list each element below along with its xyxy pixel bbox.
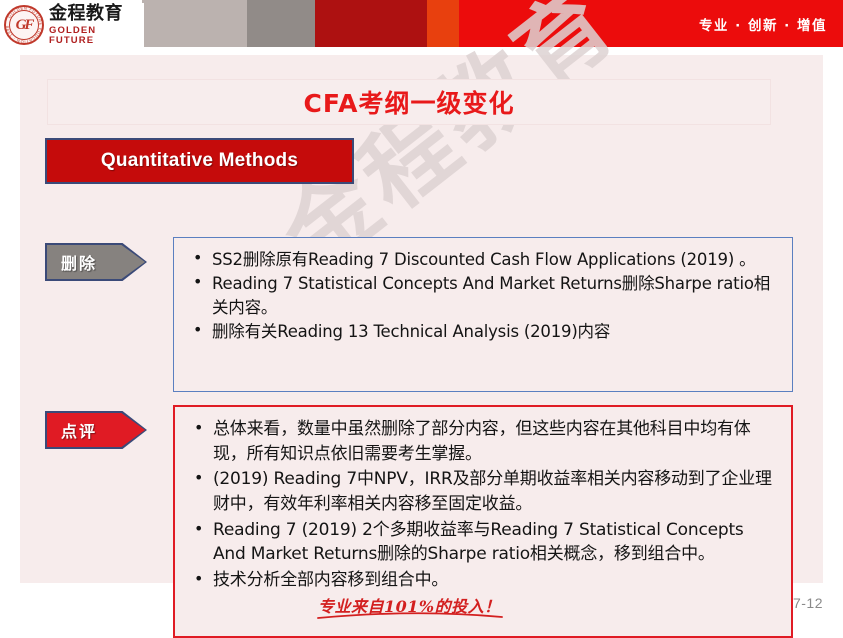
chip-review: 点评	[45, 411, 147, 449]
list-item: (2019) Reading 7中NPV，IRR及部分单期收益率相关内容移动到了…	[189, 467, 777, 516]
chip-delete-label: 删除	[61, 250, 97, 274]
footer-underline-swoosh	[316, 611, 516, 621]
list-item: 删除有关Reading 13 Technical Analysis (2019)…	[188, 320, 778, 343]
section-banner-label: Quantitative Methods	[101, 150, 298, 172]
logo-chinese-name: 金程教育	[49, 5, 144, 23]
header-tagline: 专业 · 创新 · 增值	[699, 0, 827, 47]
delete-bullet-list: SS2删除原有Reading 7 Discounted Cash Flow Ap…	[188, 248, 778, 344]
brand-logo: GOLDEN FUTURE EDUCATION · 1998 · GF 金程教育…	[4, 3, 144, 47]
chip-delete: 删除	[45, 243, 147, 281]
logo-english-name: GOLDEN FUTURE	[49, 26, 144, 45]
section-banner: Quantitative Methods	[45, 138, 354, 184]
list-item: Reading 7 Statistical Concepts And Marke…	[188, 272, 778, 319]
page-title: CFA考纲一级变化	[304, 84, 515, 120]
header-band-orange	[427, 0, 459, 47]
page-header: GOLDEN FUTURE EDUCATION · 1998 · GF 金程教育…	[0, 0, 843, 47]
slide-title-box: CFA考纲一级变化	[47, 79, 771, 125]
chip-review-label: 点评	[61, 418, 97, 442]
header-band-dark-red	[315, 0, 427, 47]
page-number: 7-12	[793, 595, 823, 611]
content-box-delete: SS2删除原有Reading 7 Discounted Cash Flow Ap…	[173, 237, 793, 392]
review-bullet-list: 总体来看，数量中虽然删除了部分内容，但这些内容在其他科目中均有体现，所有知识点依…	[189, 417, 777, 592]
list-item: 总体来看，数量中虽然删除了部分内容，但这些内容在其他科目中均有体现，所有知识点依…	[189, 417, 777, 466]
seal-monogram: GF	[4, 5, 44, 45]
slide-canvas: 金程教育 CFA考纲一级变化 Quantitative Methods 删除 S…	[20, 55, 823, 583]
logo-text-block: 金程教育 GOLDEN FUTURE	[49, 5, 144, 45]
list-item: SS2删除原有Reading 7 Discounted Cash Flow Ap…	[188, 248, 778, 271]
header-band-dark-gray	[247, 0, 315, 47]
list-item: Reading 7 (2019) 2个多期收益率与Reading 7 Stati…	[189, 518, 777, 567]
list-item: 技术分析全部内容移到组合中。	[189, 568, 777, 593]
seal-icon: GOLDEN FUTURE EDUCATION · 1998 · GF	[4, 5, 44, 45]
header-band-light-gray	[142, 0, 247, 47]
